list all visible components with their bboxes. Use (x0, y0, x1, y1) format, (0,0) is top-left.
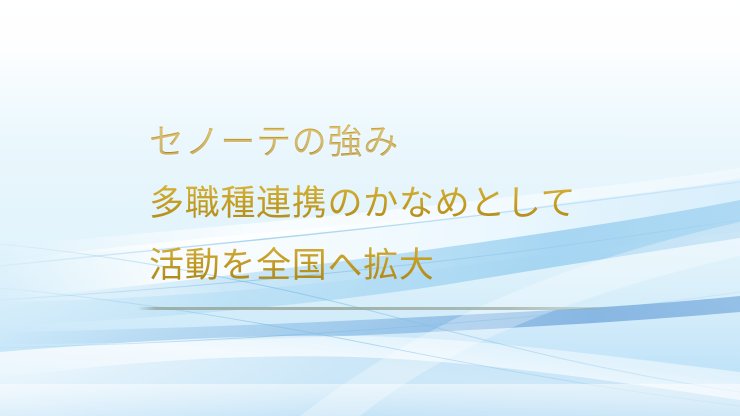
title-line-2: 多職種連携のかなめとして (149, 173, 709, 235)
slide-title-block: セノーテの強み 多職種連携のかなめとして 活動を全国へ拡大 (149, 113, 709, 297)
title-divider-rule (137, 307, 613, 310)
title-line-1: セノーテの強み (149, 113, 709, 173)
title-line-3: 活動を全国へ拡大 (149, 235, 709, 297)
presentation-slide: セノーテの強み 多職種連携のかなめとして 活動を全国へ拡大 (0, 0, 740, 416)
